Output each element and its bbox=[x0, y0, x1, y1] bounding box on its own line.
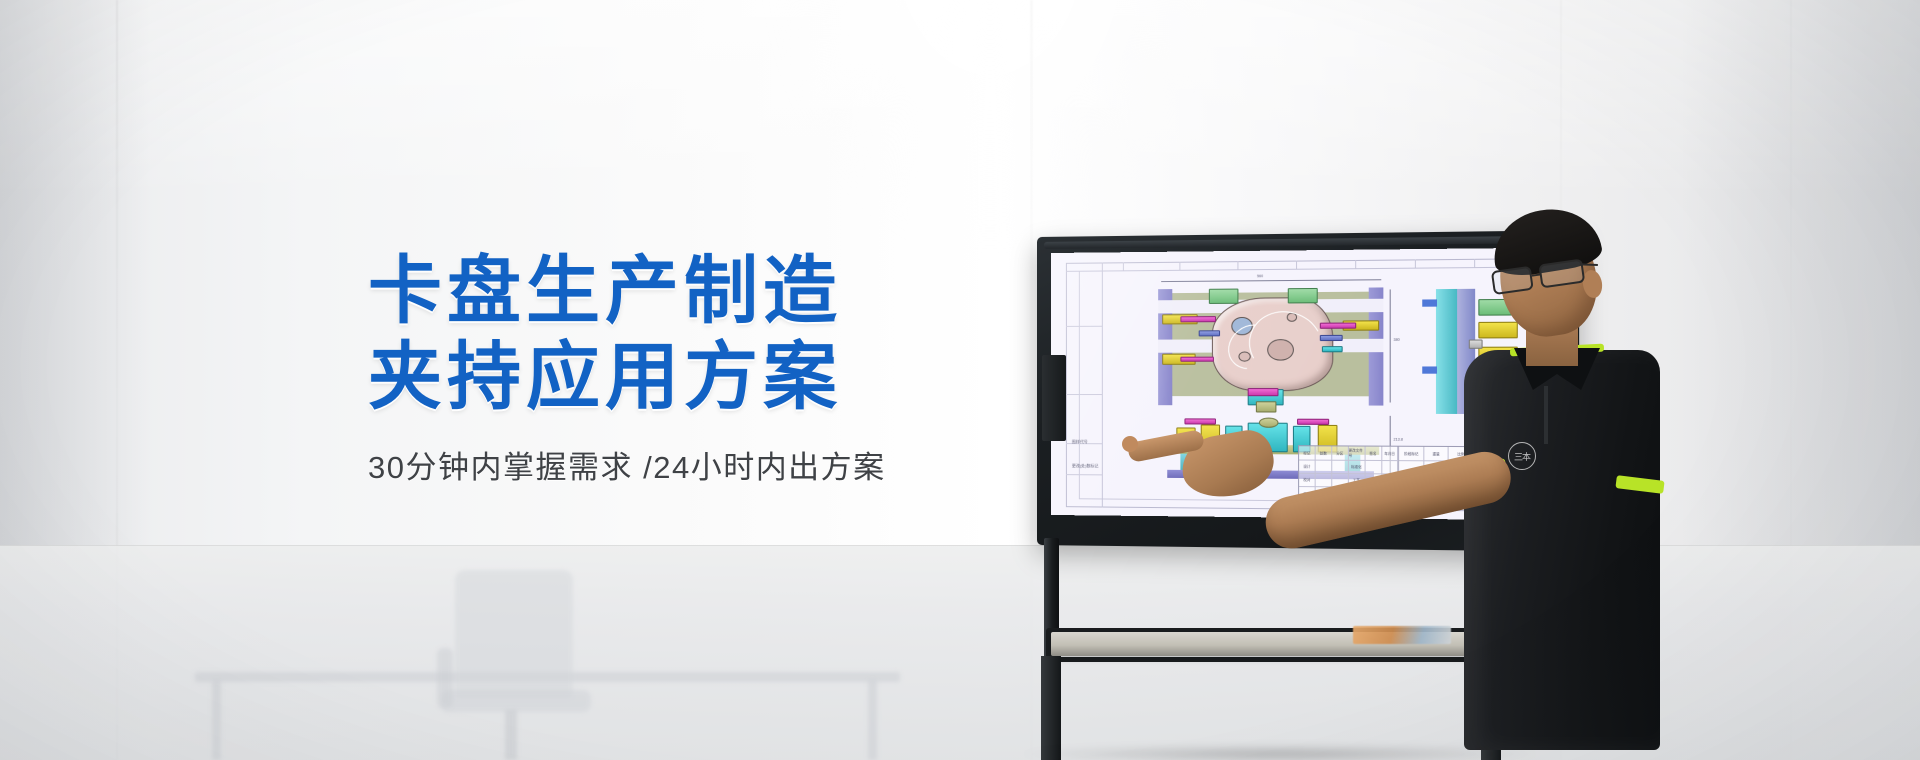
shelf-item bbox=[1353, 626, 1451, 644]
tb-row-label: 设计 bbox=[1299, 460, 1315, 474]
workpiece-casting bbox=[1212, 297, 1334, 391]
tb-cell bbox=[1332, 460, 1349, 474]
background-desk-leg bbox=[212, 680, 221, 760]
cad-row-label-1: 图样代号 bbox=[1072, 439, 1088, 445]
section-marker bbox=[1422, 366, 1437, 373]
tb-header-cell: 签名 bbox=[1365, 447, 1382, 461]
dimension-value: 380 bbox=[1393, 338, 1399, 342]
cad-row-label-2: 更改(处)数标记 bbox=[1072, 463, 1098, 469]
tb-header-cell: 年月日 bbox=[1382, 447, 1399, 461]
headline-line-2: 夹持应用方案 bbox=[368, 334, 1008, 420]
background-chair-post bbox=[505, 710, 517, 760]
tb-cell bbox=[1316, 474, 1332, 488]
shirt-placket bbox=[1544, 386, 1548, 444]
dimension-value: 560 bbox=[1257, 274, 1263, 278]
clamp-lever bbox=[1297, 419, 1329, 426]
tb-row-label: 校对 bbox=[1299, 474, 1315, 488]
tb-header-cell: 标记 bbox=[1299, 447, 1315, 461]
dimension-line-right bbox=[1389, 290, 1390, 403]
presenter-torso bbox=[1464, 350, 1660, 750]
tb-cell bbox=[1365, 460, 1382, 474]
ceiling-light-glow bbox=[780, 0, 1200, 240]
tb-header-cell: 阶段标记 bbox=[1400, 447, 1425, 461]
side-support bbox=[1320, 335, 1343, 341]
presenter-person: 三本 bbox=[1440, 210, 1720, 760]
side-support bbox=[1322, 346, 1342, 352]
support-pin bbox=[1256, 402, 1276, 413]
cad-left-column bbox=[1066, 263, 1103, 508]
side-support bbox=[1198, 330, 1220, 336]
clamp-arm bbox=[1320, 323, 1356, 329]
chest-logo: 三本 bbox=[1508, 442, 1536, 470]
clamp-arm bbox=[1180, 356, 1213, 362]
tb-row-label: 标准化 bbox=[1349, 460, 1366, 474]
display-mount-neck bbox=[1042, 355, 1066, 441]
background-chair bbox=[455, 570, 573, 698]
locator-block bbox=[1209, 288, 1238, 303]
locator-block bbox=[1288, 288, 1317, 304]
background-chair-seat bbox=[441, 690, 591, 712]
clamp-arm bbox=[1180, 316, 1216, 322]
cad-plan-view bbox=[1158, 287, 1383, 405]
dimension-value: 213.8 bbox=[1393, 438, 1402, 442]
rotary-hub bbox=[1259, 417, 1279, 427]
hero-subline: 30分钟内掌握需求 /24小时内出方案 bbox=[368, 442, 1008, 487]
headline-line-1: 卡盘生产制造 bbox=[368, 249, 842, 332]
background-desk-leg bbox=[868, 680, 877, 760]
tb-header-cell: 处数 bbox=[1316, 447, 1332, 461]
hero-banner: 卡盘生产制造 夹持应用方案 30分钟内掌握需求 /24小时内出方案 BOE bbox=[0, 0, 1920, 760]
tb-header-cell: 分区 bbox=[1332, 447, 1349, 461]
cad-left-cell bbox=[1066, 263, 1102, 327]
section-marker bbox=[1422, 299, 1437, 307]
clamp-lever bbox=[1185, 418, 1216, 424]
tb-cell bbox=[1316, 460, 1332, 474]
hero-copy-block: 卡盘生产制造 夹持应用方案 30分钟内掌握需求 /24小时内出方案 bbox=[368, 248, 1008, 487]
finger-tip bbox=[1122, 436, 1138, 452]
cad-left-cell bbox=[1066, 444, 1102, 476]
clamp-pad bbox=[1247, 388, 1279, 396]
cad-left-cell bbox=[1066, 395, 1102, 444]
background-chair-arm bbox=[437, 648, 453, 708]
cad-left-cell bbox=[1066, 327, 1102, 396]
hero-headline: 卡盘生产制造 夹持应用方案 bbox=[368, 248, 1008, 420]
tb-header-cell: 更改文件号 bbox=[1349, 447, 1366, 461]
